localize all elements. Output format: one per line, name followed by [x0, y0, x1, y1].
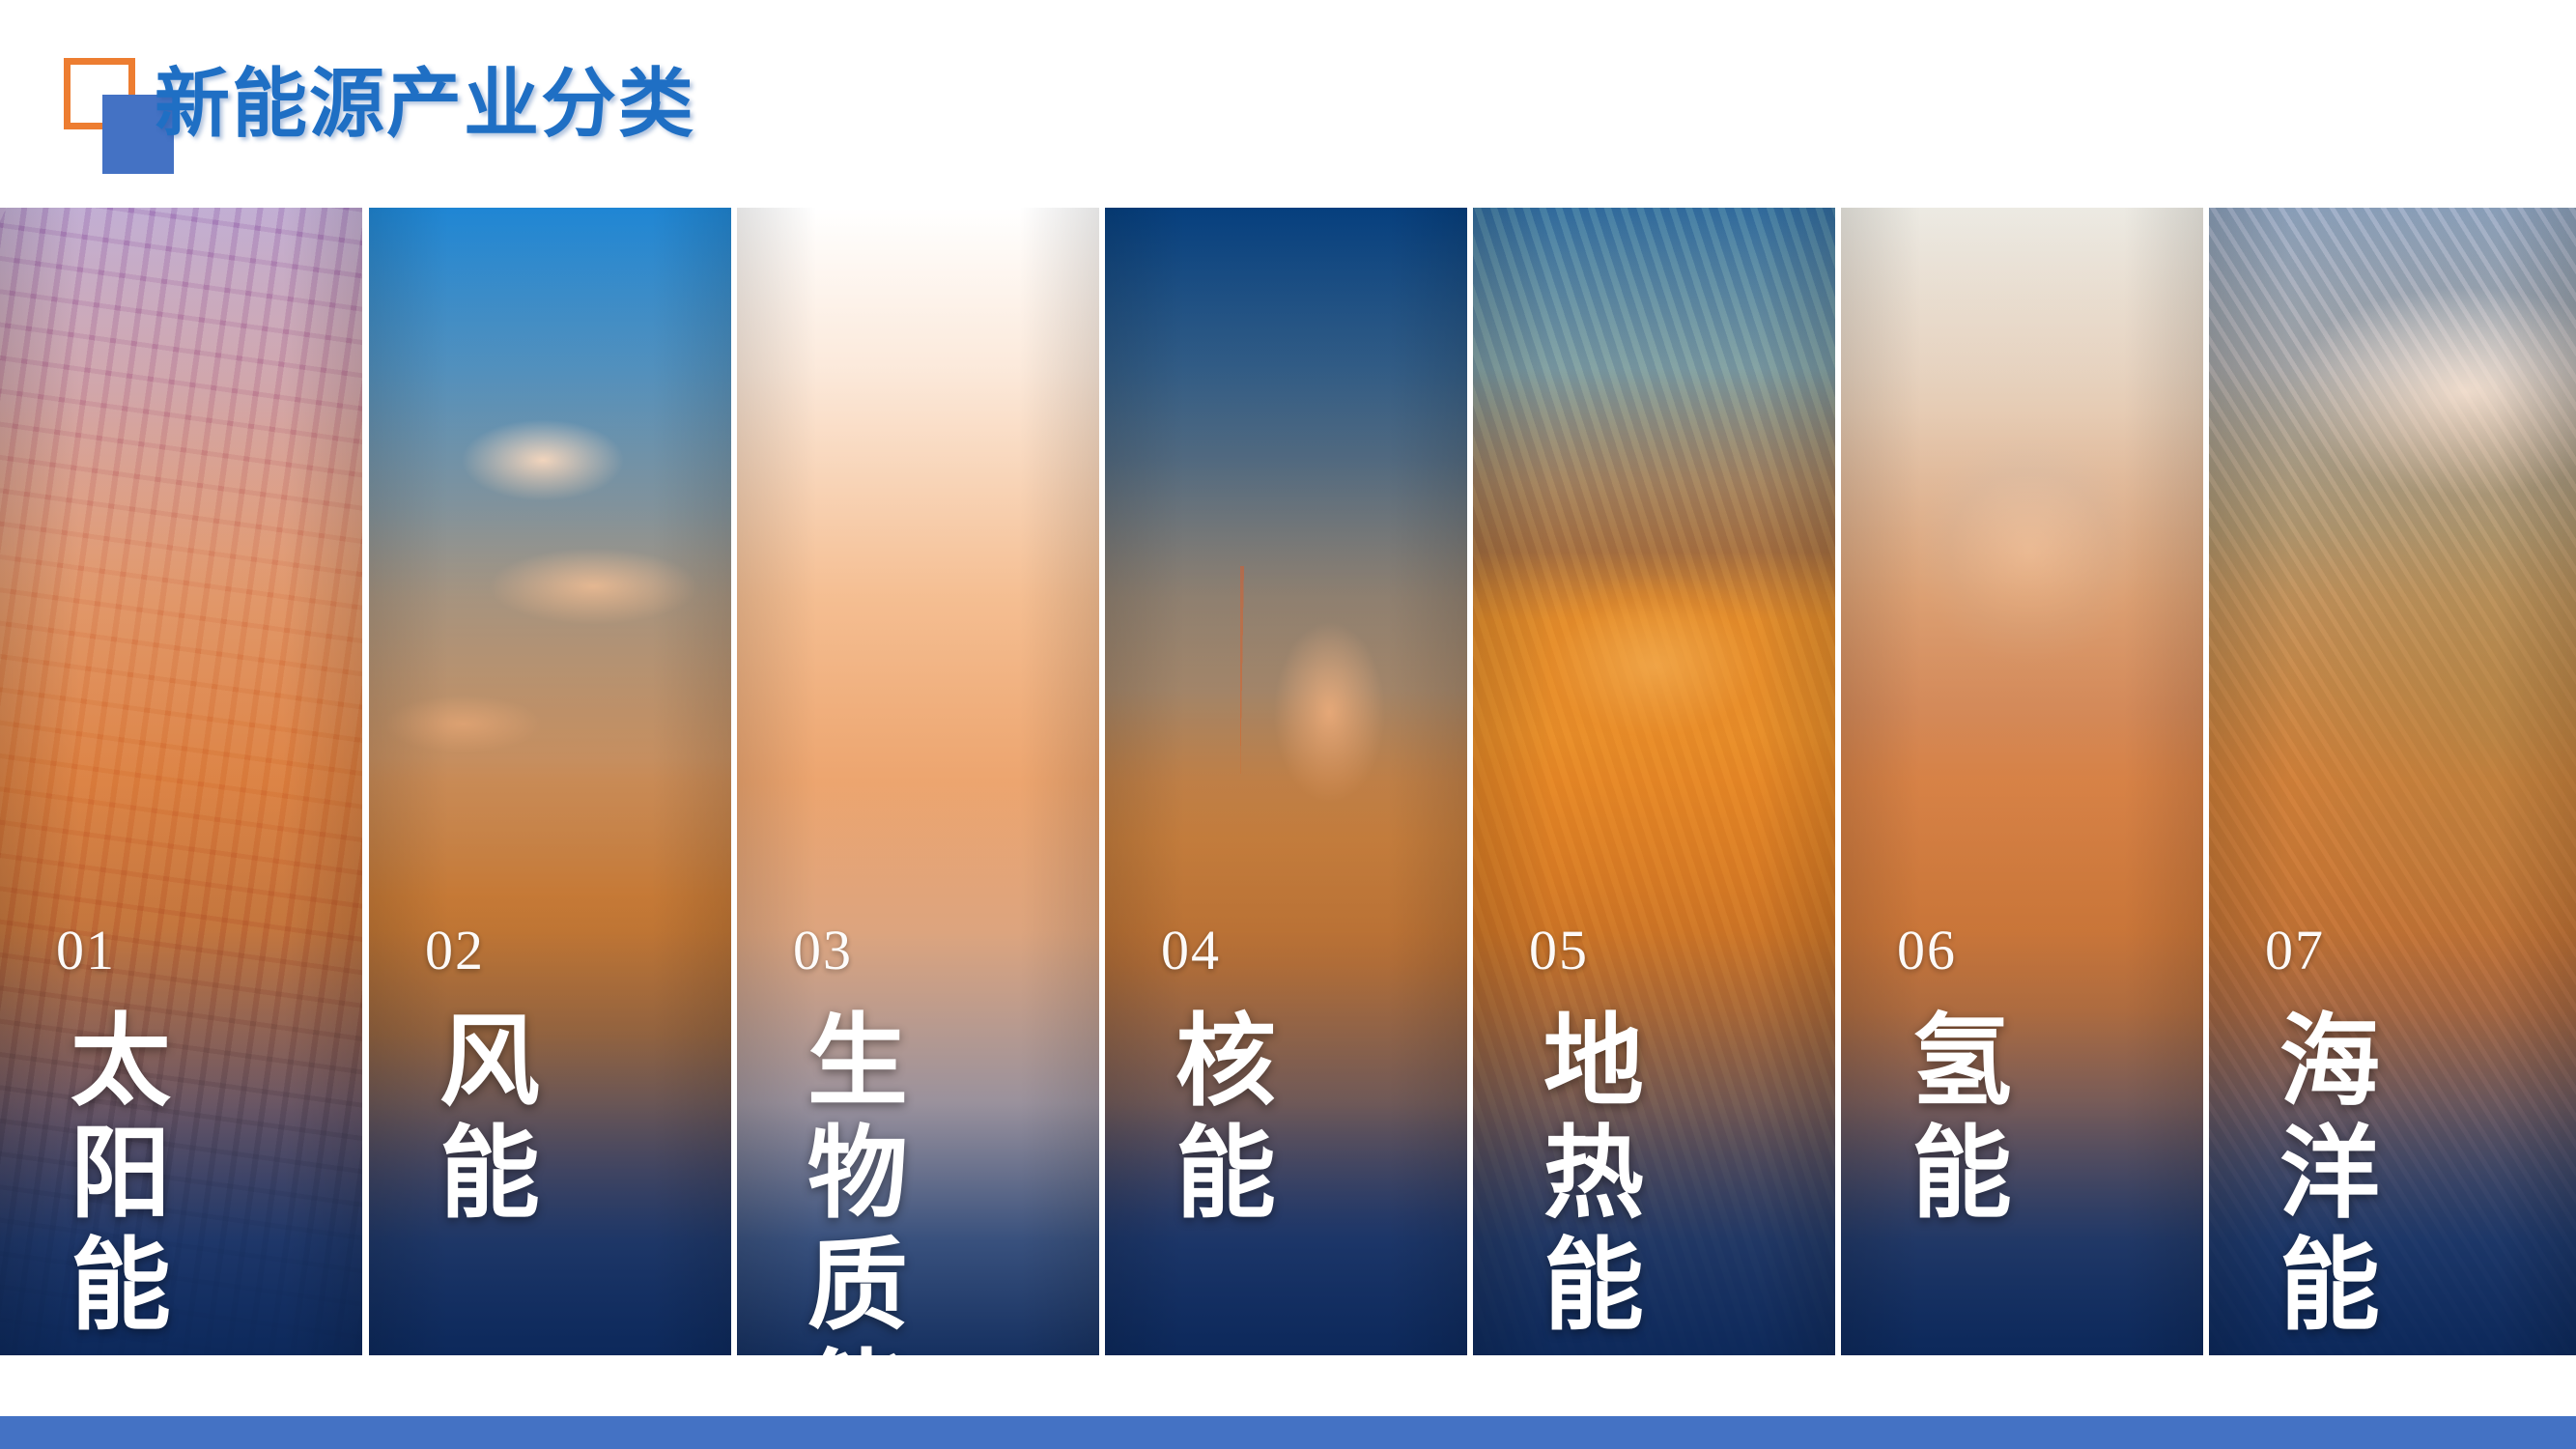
- slide-root: 新能源产业分类 01 太阳能 02 风能: [0, 0, 2576, 1449]
- page-title: 新能源产业分类: [155, 50, 695, 156]
- panel-number: 01: [56, 923, 164, 979]
- panel-caption: 06 氢能: [1897, 923, 2005, 1232]
- panel-caption: 03 生物质能: [793, 923, 901, 1355]
- panel-geothermal[interactable]: 05 地热能: [1473, 208, 1835, 1355]
- panel-caption: 01 太阳能: [56, 923, 164, 1344]
- panel-label: 海洋能: [2265, 1008, 2373, 1344]
- panel-label: 风能: [425, 1008, 533, 1232]
- panel-caption: 07 海洋能: [2265, 923, 2373, 1344]
- panel-ocean[interactable]: 07 海洋能: [2209, 208, 2576, 1355]
- footer-bar: [0, 1416, 2576, 1449]
- panel-caption: 04 核能: [1161, 923, 1269, 1232]
- panel-number: 03: [793, 923, 901, 979]
- footer-gap: [0, 1355, 2576, 1416]
- panel-wind[interactable]: 02 风能: [369, 208, 731, 1355]
- panel-number: 06: [1897, 923, 2005, 979]
- panel-label: 氢能: [1897, 1008, 2005, 1232]
- panel-label: 核能: [1161, 1008, 1269, 1232]
- panel-number: 07: [2265, 923, 2373, 979]
- panel-number: 02: [425, 923, 533, 979]
- panel-solar[interactable]: 01 太阳能: [0, 208, 362, 1355]
- panel-label: 生物质能: [793, 1008, 901, 1355]
- panel-label: 太阳能: [56, 1008, 164, 1344]
- panel-label: 地热能: [1529, 1008, 1637, 1344]
- panel-nuclear[interactable]: 04 核能: [1105, 208, 1467, 1355]
- panel-caption: 05 地热能: [1529, 923, 1637, 1344]
- panel-hydrogen[interactable]: 06 氢能: [1841, 208, 2203, 1355]
- panel-number: 05: [1529, 923, 1637, 979]
- panel-caption: 02 风能: [425, 923, 533, 1232]
- energy-panel-strip: 01 太阳能 02 风能 03 生物质能: [0, 208, 2576, 1355]
- slide-header: 新能源产业分类: [0, 0, 2576, 208]
- panel-biomass[interactable]: 03 生物质能: [737, 208, 1099, 1355]
- panel-number: 04: [1161, 923, 1269, 979]
